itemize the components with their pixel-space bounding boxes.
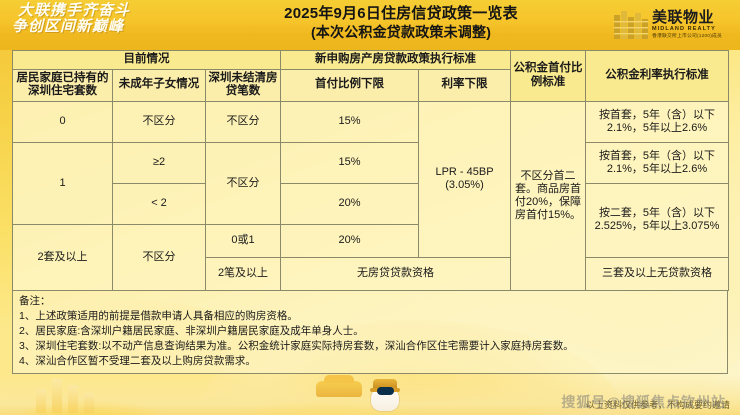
cell-minors-2: < 2 (113, 183, 206, 224)
brand-listing-note: 香港联交所上市公司(1200)成员 (652, 35, 722, 40)
deco-lantern-icon (316, 381, 362, 397)
slogan-line-2: 争创区间新巅峰 (12, 20, 190, 36)
rate-min-line2: (3.05%) (421, 179, 508, 192)
cell-owned-1: 1 (13, 142, 113, 224)
cell-fund-rate-4: 三套及以上无贷款资格 (586, 257, 729, 290)
cell-fund-rate-0: 按首套，5年（含）以下2.1%，5年以上2.6% (586, 101, 729, 142)
header-downpayment-min: 首付比例下限 (281, 69, 419, 101)
table-row: < 2 20% 按二套，5年（含）以下2.525%，5年以上3.075% (13, 183, 729, 224)
rate-min-line1: LPR - 45BP (421, 166, 508, 179)
deco-mascot-icon (365, 375, 405, 411)
cell-minors-1: ≥2 (113, 142, 206, 183)
policy-table-container: 目前情况 新申购房产房贷款政策执行标准 公积金首付比例标准 公积金利率执行标准 … (12, 50, 728, 291)
screenshot-root: 大联携手齐奋斗 争创区间新巅峰 2025年9月6日住房信贷政策一览表 (本次公积… (0, 0, 740, 415)
cell-down-3: 20% (281, 224, 419, 257)
cell-no-mortgage-qualification: 无房贷贷款资格 (281, 257, 511, 290)
brand-name-en: MIDLAND REALTY (652, 27, 722, 33)
brand-name-cn: 美联物业 (652, 10, 722, 25)
table-group-header-row: 目前情况 新申购房产房贷款政策执行标准 公积金首付比例标准 公积金利率执行标准 (13, 51, 729, 70)
cell-down-1: 15% (281, 142, 419, 183)
remark-line-4: 4、深汕合作区暂不受理二套及以上购房贷款需求。 (19, 354, 721, 369)
page-title: 2025年9月6日住房信贷政策一览表 (本次公积金贷款政策未调整) (186, 5, 616, 41)
cell-down-2: 20% (281, 183, 419, 224)
title-subtitle: (本次公积金贷款政策未调整) (186, 24, 616, 41)
cell-unsettled-0: 不区分 (206, 101, 281, 142)
deco-building-4 (84, 393, 94, 413)
table-row: 1 ≥2 不区分 15% 按首套，5年（含）以下2.1%，5年以上2.6% (13, 142, 729, 183)
slogan-line-1: 大联携手齐奋斗 (12, 4, 190, 20)
deco-building-1 (36, 389, 46, 413)
cell-fund-rate-1: 按首套，5年（含）以下2.1%，5年以上2.6% (586, 142, 729, 183)
header-minor-children: 未成年子女情况 (113, 69, 206, 101)
header-current-situation: 目前情况 (13, 51, 281, 70)
cell-rate-min-merged: LPR - 45BP (3.05%) (419, 101, 511, 257)
cell-owned-0: 0 (13, 101, 113, 142)
cell-unsettled-1: 不区分 (206, 142, 281, 224)
table-row: 0 不区分 不区分 15% LPR - 45BP (3.05%) 不区分首二套。… (13, 101, 729, 142)
deco-building-3 (68, 385, 78, 413)
cell-unsettled-3: 0或1 (206, 224, 281, 257)
cell-owned-2plus: 2套及以上 (13, 224, 113, 290)
policy-table: 目前情况 新申购房产房贷款政策执行标准 公积金首付比例标准 公积金利率执行标准 … (12, 50, 729, 291)
cell-unsettled-4: 2笔及以上 (206, 257, 281, 290)
midland-logo-icon (614, 11, 648, 39)
header-new-loan-policy: 新申购房产房贷款政策执行标准 (281, 51, 511, 70)
brand-text-block: 美联物业 MIDLAND REALTY 香港联交所上市公司(1200)成员 (652, 10, 722, 40)
footer-disclaimer: 以上资料仅供参考，不构成要约邀请 (586, 398, 730, 411)
cell-fund-rate-2: 按二套，5年（含）以下2.525%，5年以上3.075% (586, 183, 729, 257)
cell-minors-3: 不区分 (113, 224, 206, 290)
calligraphy-slogan: 大联携手齐奋斗 争创区间新巅峰 (12, 4, 190, 46)
header-band: 大联携手齐奋斗 争创区间新巅峰 2025年9月6日住房信贷政策一览表 (本次公积… (0, 0, 740, 50)
remarks-box: 备注： 1、上述政策适用的前提是借款申请人具备相应的购房资格。 2、居民家庭:含… (12, 291, 728, 374)
remark-line-2: 2、居民家庭:含深圳户籍居民家庭、非深圳户籍居民家庭及成年单身人士。 (19, 324, 721, 339)
deco-building-2 (52, 379, 62, 413)
cell-fund-downpayment-merged: 不区分首二套。商品房首付20%，保障房首付15%。 (511, 101, 586, 290)
header-fund-downpayment: 公积金首付比例标准 (511, 51, 586, 102)
cell-down-0: 15% (281, 101, 419, 142)
header-rate-min: 利率下限 (419, 69, 511, 101)
remark-line-1: 1、上述政策适用的前提是借款申请人具备相应的购房资格。 (19, 309, 721, 324)
header-owned-units: 居民家庭已持有的深圳住宅套数 (13, 69, 113, 101)
cell-minors-0: 不区分 (113, 101, 206, 142)
brand-logo: 美联物业 MIDLAND REALTY 香港联交所上市公司(1200)成员 (614, 3, 732, 47)
header-fund-rate: 公积金利率执行标准 (586, 51, 729, 102)
title-main: 2025年9月6日住房信贷政策一览表 (186, 5, 616, 24)
remark-line-3: 3、深圳住宅套数:以不动产信息查询结果为准。公积金统计家庭实际持房套数，深汕合作… (19, 339, 721, 354)
remarks-title: 备注： (19, 294, 721, 309)
header-unsettled-loans: 深圳未结清房贷笔数 (206, 69, 281, 101)
